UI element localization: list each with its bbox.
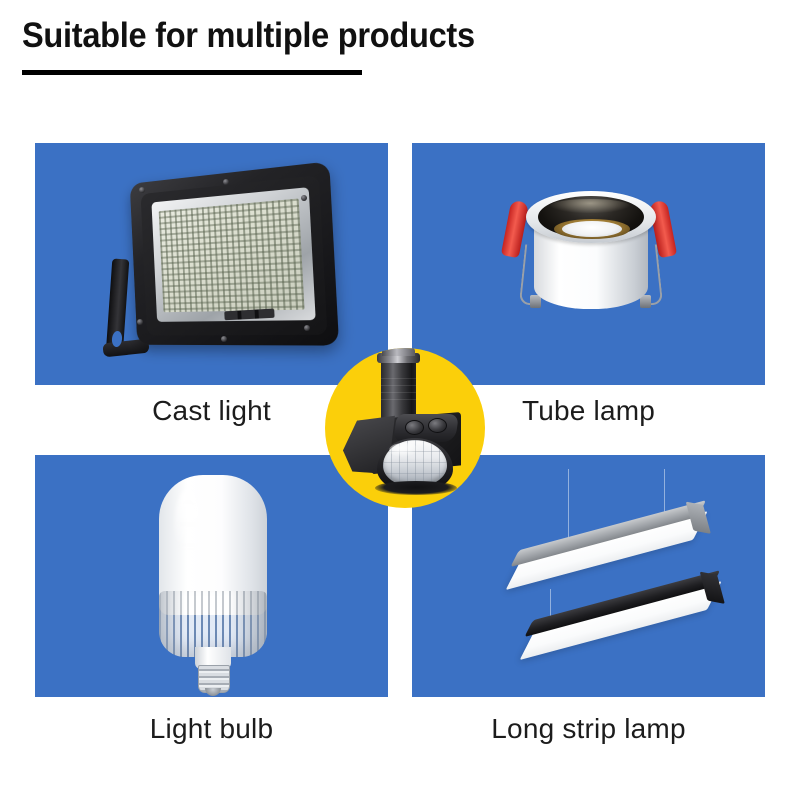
floodlight-screw [304, 325, 310, 331]
product-label-light-bulb: Light bulb [35, 713, 388, 745]
linear-lamp-black-body [521, 572, 723, 657]
sensor-cap [382, 348, 415, 356]
sensor-adjust-knob [405, 420, 424, 435]
floodlight-screw [137, 319, 143, 325]
led-t-bulb-icon [153, 475, 273, 685]
sensor-top-plate [393, 414, 459, 442]
sensor-stem-ribs [381, 378, 416, 406]
bulb-base-contact [205, 688, 221, 696]
floodlight-led-panel [159, 199, 305, 313]
pir-motion-sensor-icon [325, 348, 485, 508]
suspended-linear-lamp-icon [460, 469, 730, 679]
floodlight-screw [221, 336, 227, 342]
sensor-adjust-knob [428, 418, 447, 433]
bulb-highlight [175, 489, 201, 561]
floodlight-screw [139, 187, 145, 193]
sensor-lens-highlight [389, 443, 419, 457]
sensor-base [375, 481, 457, 495]
downlight-reflector-highlight [550, 199, 630, 213]
recessed-downlight-icon [500, 177, 680, 337]
floodlight-screw [223, 179, 229, 185]
linear-lamp-silver [507, 502, 709, 587]
linear-lamp-black [521, 572, 723, 657]
product-image-cast-light [35, 143, 388, 385]
downlight-cob-module [562, 221, 622, 237]
product-label-long-strip-lamp: Long strip lamp [412, 713, 765, 745]
product-image-light-bulb [35, 455, 388, 697]
linear-lamp-silver-body [507, 502, 709, 587]
floodlight-screw [301, 195, 307, 201]
floodlight-led-grid [159, 199, 305, 313]
suspension-wire [568, 469, 569, 539]
product-image-tube-lamp [412, 143, 765, 385]
center-sensor-badge [325, 348, 485, 508]
product-image-long-strip-lamp [412, 455, 765, 697]
suspension-wire [664, 469, 665, 515]
led-flood-light-icon [103, 173, 333, 358]
